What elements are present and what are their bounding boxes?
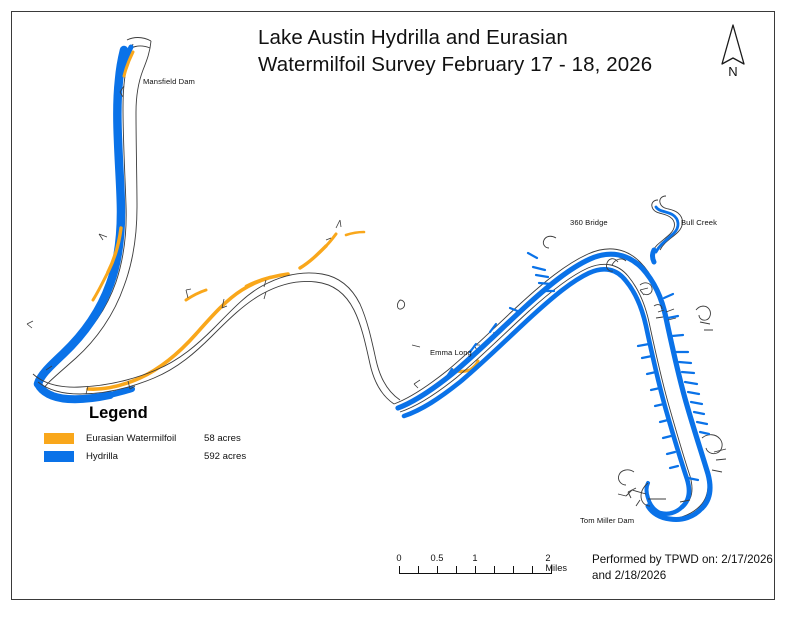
legend-label-watermilfoil: Eurasian Watermilfoil	[86, 433, 204, 444]
scale-label-0: 0	[396, 553, 401, 563]
legend-swatch-hydrilla	[44, 451, 74, 462]
hydrilla-bull-creek-mouth	[653, 250, 655, 262]
credit-line-1: Performed by TPWD on: 2/17/2026	[592, 552, 772, 568]
hydrilla-band-west-bend-taper	[110, 389, 132, 395]
credit-line-2: and 2/18/2026	[592, 568, 772, 584]
scale-label-1: 1	[472, 553, 477, 563]
place-label-360-bridge: 360 Bridge	[570, 218, 608, 227]
watermilfoil-patch-m4	[326, 234, 336, 246]
legend-row-watermilfoil: Eurasian Watermilfoil 58 acres	[44, 431, 294, 446]
legend-label-hydrilla: Hydrilla	[86, 451, 204, 462]
cove-tick	[397, 300, 404, 309]
scale-tick	[551, 566, 552, 574]
scale-tick	[437, 566, 438, 574]
watermilfoil-patch-m1	[186, 290, 206, 300]
legend-value-watermilfoil: 58 acres	[204, 433, 241, 444]
shoreline-mid-north	[33, 273, 400, 400]
eastern-arm	[394, 196, 726, 520]
cove-tick	[336, 220, 341, 228]
cove-tick	[612, 259, 626, 265]
legend-value-hydrilla: 592 acres	[204, 451, 246, 462]
hydrilla-band-east-outer	[398, 254, 710, 508]
watermilfoil-patch-m2	[246, 277, 270, 286]
scale-tick	[532, 566, 533, 574]
cove-tick	[712, 449, 726, 472]
cove-360	[543, 236, 556, 248]
western-arm	[27, 38, 288, 400]
credit-text: Performed by TPWD on: 2/17/2026 and 2/18…	[592, 552, 772, 584]
cove-tick	[414, 380, 420, 388]
scale-tick	[399, 566, 400, 574]
hydrilla-band-east-inner	[404, 269, 689, 507]
cove-tick	[700, 322, 713, 330]
place-label-mansfield-dam: Mansfield Dam	[143, 77, 195, 86]
scale-tick	[418, 566, 419, 574]
shoreline-west-dam	[127, 38, 151, 42]
hydrilla-bull-creek	[656, 207, 678, 252]
scale-tick	[475, 566, 476, 574]
scale-label-05: 0.5	[431, 553, 444, 563]
hydrilla-band-west-bend	[38, 384, 110, 399]
cove-tick	[27, 321, 33, 328]
scale-tick	[513, 566, 514, 574]
legend-title: Legend	[89, 404, 294, 423]
scale-label-2-miles: 2 Miles	[545, 553, 567, 573]
scale-bar: 0 0.5 1 2 Miles	[399, 553, 569, 585]
place-label-emma-long: Emma Long	[430, 348, 472, 357]
place-label-bull-creek: Bull Creek	[681, 218, 717, 227]
legend: Legend Eurasian Watermilfoil 58 acres Hy…	[44, 404, 294, 467]
watermilfoil-patch-m3	[300, 246, 326, 268]
hydrilla-band-west-main	[38, 50, 124, 384]
scale-tick	[456, 566, 457, 574]
legend-swatch-watermilfoil	[44, 433, 74, 444]
cove-tick	[618, 470, 634, 485]
legend-row-hydrilla: Hydrilla 592 acres	[44, 449, 294, 464]
hydrilla-cove-spurs	[446, 253, 709, 480]
watermilfoil-patch-m5	[346, 232, 364, 235]
map-page: Lake Austin Hydrilla and Eurasian Waterm…	[0, 0, 800, 618]
hydrilla-band-dam-inner	[660, 507, 682, 514]
shoreline-west-right	[44, 41, 151, 388]
cove-tick	[99, 234, 107, 240]
lake-austin-map	[0, 0, 800, 618]
cove-tick	[640, 288, 648, 295]
cove-tick	[412, 345, 420, 347]
place-label-tom-miller-dam: Tom Miller Dam	[580, 516, 634, 525]
cove-tick	[696, 306, 710, 320]
scale-tick	[494, 566, 495, 574]
watermilfoil-band-west-south	[88, 274, 288, 389]
